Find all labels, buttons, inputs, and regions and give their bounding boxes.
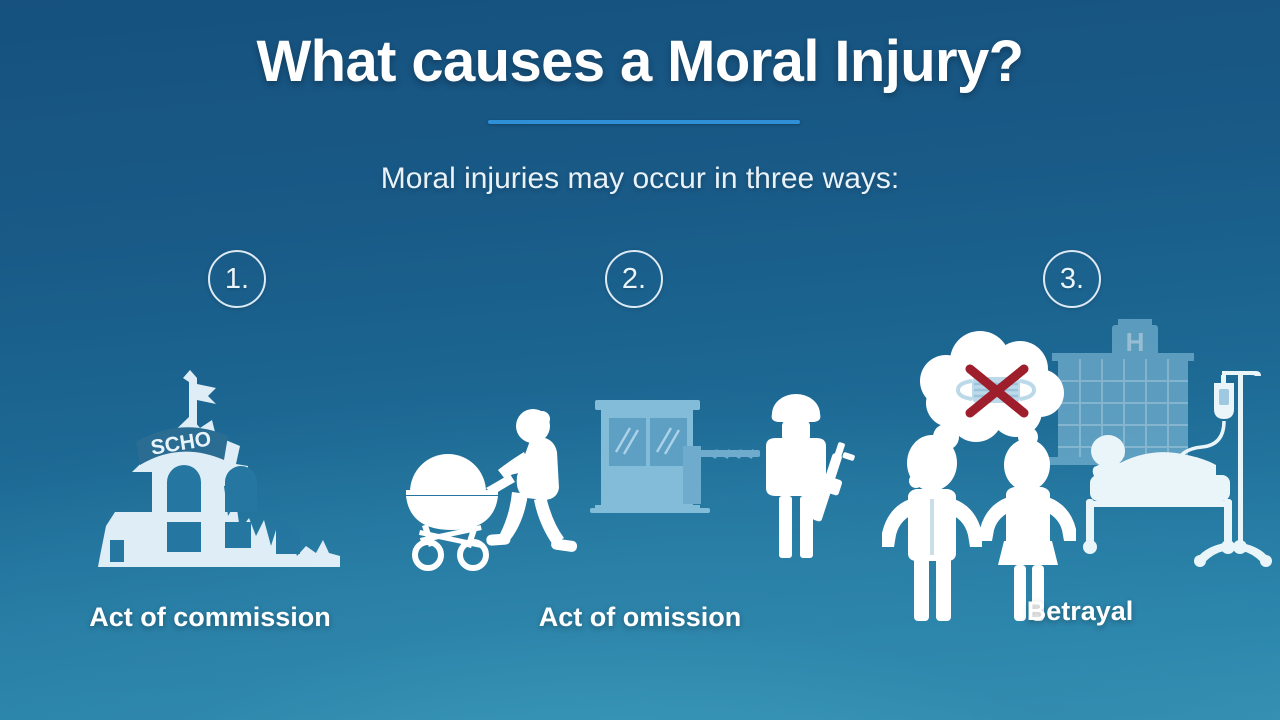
destroyed-school-building-icon: SCHO [40, 370, 380, 590]
page-subtitle: Moral injuries may occur in three ways: [0, 162, 1280, 196]
slide-root: What causes a Moral Injury? Moral injuri… [0, 0, 1280, 720]
cause-item-1-caption: Act of commission [40, 602, 380, 633]
checkpoint-booth-icon [590, 400, 760, 513]
patient-in-bed-icon [1083, 435, 1235, 554]
page-title: What causes a Moral Injury? [0, 28, 1280, 95]
woman-with-stroller-at-checkpoint-with-armed-soldier-icon [400, 380, 880, 580]
step-number-1: 1. [208, 250, 266, 308]
cause-item-3-caption: Betrayal [880, 596, 1280, 627]
cause-item-3: 3. H [880, 250, 1280, 670]
hospital-sign-text: H [1126, 327, 1145, 357]
step-number-1-label: 1. [225, 263, 249, 296]
step-number-2: 2. [605, 250, 663, 308]
hospital-building-icon: H [1048, 319, 1198, 465]
armed-soldier-icon [766, 394, 858, 558]
cause-item-2-caption: Act of omission [400, 602, 880, 633]
medical-staff-without-ppe-at-hospital-icon: H [880, 285, 1280, 595]
cause-item-2: 2. [400, 250, 880, 670]
title-accent-underline [488, 120, 800, 124]
cause-item-1: 1. [40, 250, 380, 670]
male-medical-staff-icon [882, 435, 982, 621]
step-number-2-label: 2. [622, 263, 646, 296]
